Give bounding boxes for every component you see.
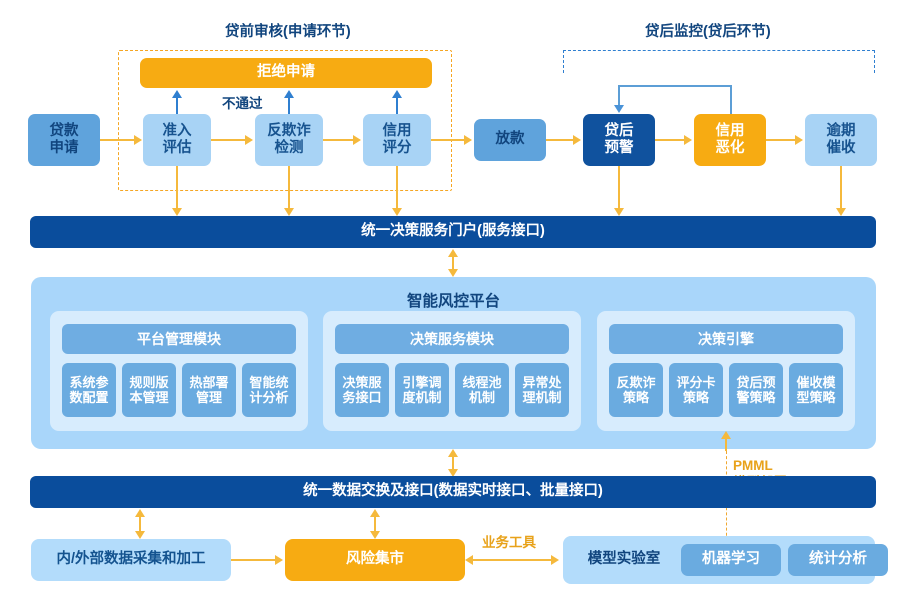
- platform-data-link-head-up: [448, 449, 458, 457]
- flow-arrow-4-line: [431, 139, 464, 141]
- chip-hot-deploy-management[interactable]: 热部署 管理: [182, 363, 236, 417]
- reject-application-label: 拒绝申请: [257, 64, 315, 81]
- flow-arrow-6-head: [684, 135, 692, 145]
- portal-down-arrow-1-line: [176, 166, 178, 212]
- flow-node-credit-deterioration[interactable]: 信用 恶化: [694, 114, 766, 166]
- data-collection-link-head-up: [135, 509, 145, 517]
- group-header-label: 决策引擎: [698, 331, 754, 348]
- data-collection-label: 内/外部数据采集和加工: [56, 551, 205, 568]
- deterioration-line2: 恶化: [716, 140, 745, 157]
- chip-line2: 务接口: [342, 390, 381, 405]
- flow-arrow-7-line: [766, 139, 795, 141]
- flow-arrow-3-line: [323, 139, 353, 141]
- chip-line2: 数配置: [69, 390, 108, 405]
- collection-to-mart-line: [231, 559, 275, 561]
- data-exchange-bar[interactable]: 统一数据交换及接口(数据实时接口、批量接口): [30, 476, 876, 508]
- portal-down-arrow-3-head: [392, 208, 402, 216]
- chip-collection-model-strategy[interactable]: 催收模 型策略: [789, 363, 843, 417]
- feedback-loop-arrow-head: [614, 105, 624, 113]
- flow-arrow-5-line: [546, 139, 573, 141]
- portal-platform-link-head-down: [448, 269, 458, 277]
- portal-down-arrow-4-head: [614, 208, 624, 216]
- model-lab-container: 模型实验室 机器学习 统计分析: [563, 536, 875, 584]
- flow-node-post-loan-warning[interactable]: 贷后 预警: [583, 114, 655, 166]
- chip-exception-handling-mechanism[interactable]: 异常处 理机制: [515, 363, 569, 417]
- reject-edge-label: 不通过: [222, 92, 263, 112]
- feedback-loop-up-stem: [730, 85, 732, 114]
- feedback-loop-top: [618, 85, 732, 87]
- chip-line1: 热部署: [189, 375, 228, 390]
- chip-line2: 本管理: [129, 390, 168, 405]
- business-tools-head-left: [465, 555, 473, 565]
- risk-mart-box[interactable]: 风险集市: [285, 539, 465, 581]
- chip-line2: 管理: [189, 390, 228, 405]
- fraud-line1: 反欺诈: [267, 123, 311, 140]
- chip-line1: 线程池: [462, 375, 501, 390]
- chip-line2: 策略: [616, 390, 655, 405]
- portal-down-arrow-5-head: [836, 208, 846, 216]
- platform-title: 智能风控平台: [31, 289, 876, 311]
- platform-group-platform-management-module: 平台管理模块 系统参 数配置 规则版 本管理 热部署 管理 智能统 计分析: [50, 311, 308, 431]
- portal-down-arrow-5-line: [840, 166, 842, 212]
- model-lab-title-label: 模型实验室: [588, 551, 661, 568]
- chip-thread-pool-mechanism[interactable]: 线程池 机制: [455, 363, 509, 417]
- overdue-line2: 催收: [827, 140, 856, 157]
- chip-line1: 催收模: [796, 375, 835, 390]
- credit-line2: 评分: [383, 140, 412, 157]
- reject-arrow-head-2: [284, 90, 294, 98]
- data-collection-box[interactable]: 内/外部数据采集和加工: [31, 539, 231, 581]
- loan-application-line2: 申请: [50, 140, 79, 157]
- chip-line2: 度机制: [402, 390, 441, 405]
- loan-application-line1: 贷款: [50, 123, 79, 140]
- chip-line2: 计分析: [249, 390, 288, 405]
- warning-line1: 贷后: [605, 123, 634, 140]
- pmml-line1: PMML: [733, 458, 787, 475]
- chip-line1: 异常处: [522, 375, 561, 390]
- flow-node-credit-scoring[interactable]: 信用 评分: [363, 114, 431, 166]
- engine-pmml-up-head: [721, 431, 731, 439]
- credit-line1: 信用: [383, 123, 412, 140]
- collection-to-mart-head: [275, 555, 283, 565]
- engine-pmml-up-line: [725, 437, 727, 451]
- model-lab-title: 模型实验室: [571, 546, 677, 574]
- chip-decision-service-interface[interactable]: 决策服 务接口: [335, 363, 389, 417]
- chip-line2: 策略: [676, 390, 715, 405]
- flow-node-admission-assessment[interactable]: 准入 评估: [143, 114, 211, 166]
- flow-node-anti-fraud-detection[interactable]: 反欺诈 检测: [255, 114, 323, 166]
- business-tools-line: [471, 559, 551, 561]
- risk-mart-link-head-down: [370, 531, 380, 539]
- chip-line2: 理机制: [522, 390, 561, 405]
- deterioration-line1: 信用: [716, 123, 745, 140]
- flow-arrow-4-head: [464, 135, 472, 145]
- chip-line1: 贷后预: [736, 375, 775, 390]
- flow-arrow-2-line: [211, 139, 245, 141]
- portal-down-arrow-3-line: [396, 166, 398, 212]
- flow-arrow-2-head: [245, 135, 253, 145]
- chip-line1: 决策服: [342, 375, 381, 390]
- flow-node-disbursement[interactable]: 放款: [474, 119, 546, 161]
- chip-line1: 评分卡: [676, 375, 715, 390]
- post-loan-dashed-region: [563, 50, 875, 73]
- portal-down-arrow-1-head: [172, 208, 182, 216]
- chip-line1: 智能统: [249, 375, 288, 390]
- chip-label: 统计分析: [809, 551, 867, 568]
- admission-line1: 准入: [163, 123, 192, 140]
- flow-arrow-1-line: [100, 139, 134, 141]
- platform-group-decision-engine: 决策引擎 反欺诈 策略 评分卡 策略 贷后预 警策略 催收模 型策略: [597, 311, 855, 431]
- section-title-pre-loan: 贷前审核(申请环节): [225, 20, 351, 41]
- disbursement-label: 放款: [496, 131, 525, 148]
- data-collection-link-head-down: [135, 531, 145, 539]
- flow-arrow-7-head: [795, 135, 803, 145]
- chip-line2: 型策略: [796, 390, 835, 405]
- flow-arrow-5-head: [573, 135, 581, 145]
- overdue-line1: 逾期: [827, 123, 856, 140]
- fraud-line2: 检测: [267, 140, 311, 157]
- flow-arrow-3-head: [353, 135, 361, 145]
- chip-anti-fraud-strategy[interactable]: 反欺诈 策略: [609, 363, 663, 417]
- portal-down-arrow-2-line: [288, 166, 290, 212]
- group-header-label: 平台管理模块: [137, 331, 221, 348]
- model-lab-chip-machine-learning[interactable]: 机器学习: [681, 544, 781, 576]
- chip-line1: 反欺诈: [616, 375, 655, 390]
- group-header-decision-service-module[interactable]: 决策服务模块: [335, 324, 569, 354]
- data-exchange-label: 统一数据交换及接口(数据实时接口、批量接口): [303, 483, 603, 500]
- flow-arrow-1-head: [134, 135, 142, 145]
- service-portal-label: 统一决策服务门户(服务接口): [361, 223, 545, 240]
- chip-line2: 警策略: [736, 390, 775, 405]
- reject-arrow-head-3: [392, 90, 402, 98]
- chip-intelligent-statistics-analysis[interactable]: 智能统 计分析: [242, 363, 296, 417]
- chip-engine-scheduling-mechanism[interactable]: 引擎调 度机制: [395, 363, 449, 417]
- chip-line2: 机制: [462, 390, 501, 405]
- chip-line1: 规则版: [129, 375, 168, 390]
- chip-label: 机器学习: [702, 551, 760, 568]
- portal-down-arrow-2-head: [284, 208, 294, 216]
- risk-mart-label: 风险集市: [346, 551, 404, 568]
- portal-platform-link-head-up: [448, 249, 458, 257]
- chip-post-loan-warning-strategy[interactable]: 贷后预 警策略: [729, 363, 783, 417]
- reject-arrow-head-1: [172, 90, 182, 98]
- platform-group-decision-service-module: 决策服务模块 决策服 务接口 引擎调 度机制 线程池 机制 异常处 理机制: [323, 311, 581, 431]
- chip-line1: 引擎调: [402, 375, 441, 390]
- portal-down-arrow-4-line: [618, 166, 620, 212]
- chip-scorecard-strategy[interactable]: 评分卡 策略: [669, 363, 723, 417]
- chip-system-parameter-config[interactable]: 系统参 数配置: [62, 363, 116, 417]
- admission-line2: 评估: [163, 140, 192, 157]
- chip-rule-version-management[interactable]: 规则版 本管理: [122, 363, 176, 417]
- business-tools-label: 业务工具: [482, 535, 536, 552]
- warning-line2: 预警: [605, 140, 634, 157]
- group-header-label: 决策服务模块: [410, 331, 494, 348]
- flow-arrow-6-line: [655, 139, 684, 141]
- business-tools-head-right: [551, 555, 559, 565]
- service-portal-bar[interactable]: 统一决策服务门户(服务接口): [30, 216, 876, 248]
- risk-mart-link-head-up: [370, 509, 380, 517]
- group-header-decision-engine[interactable]: 决策引擎: [609, 324, 843, 354]
- reject-application-box[interactable]: 拒绝申请: [140, 58, 432, 88]
- flow-node-loan-application[interactable]: 贷款 申请: [28, 114, 100, 166]
- model-lab-chip-statistical-analysis[interactable]: 统计分析: [788, 544, 888, 576]
- group-header-platform-management-module[interactable]: 平台管理模块: [62, 324, 296, 354]
- feedback-loop-down-stem: [618, 85, 620, 107]
- chip-line1: 系统参: [69, 375, 108, 390]
- section-title-post-loan: 贷后监控(贷后环节): [645, 20, 771, 41]
- diagram-canvas: 贷前审核(申请环节) 贷后监控(贷后环节) 拒绝申请 不通过 贷款 申请 准入 …: [0, 0, 901, 613]
- flow-node-overdue-collection[interactable]: 逾期 催收: [805, 114, 877, 166]
